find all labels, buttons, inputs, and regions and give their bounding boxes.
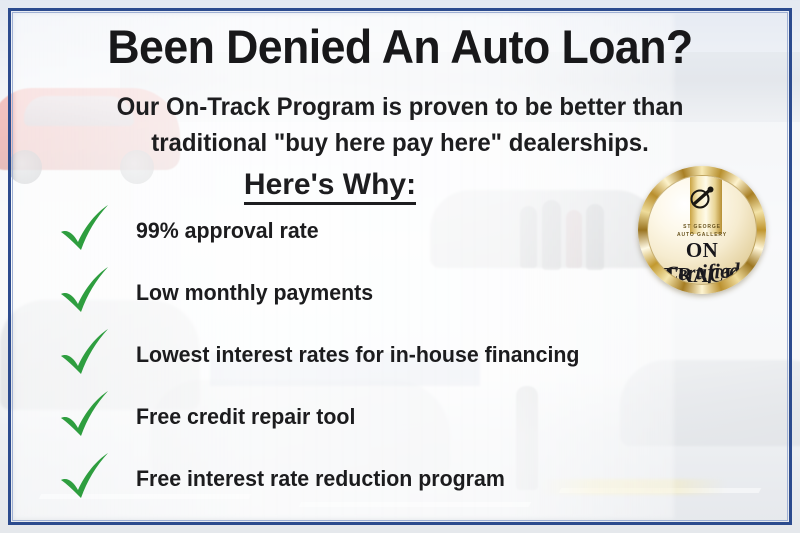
headline: Been Denied An Auto Loan? xyxy=(20,22,780,71)
list-item-label: Lowest interest rates for in-house finan… xyxy=(136,342,579,368)
check-icon xyxy=(56,388,112,444)
section-heading: Here's Why: xyxy=(0,168,660,202)
list-item: Low monthly payments xyxy=(52,262,672,324)
list-item-label: Free credit repair tool xyxy=(136,404,355,430)
list-item: Free credit repair tool xyxy=(52,386,672,448)
seal-inner-face: ST GEORGE AUTO GALLERY ON TRACK Certifie… xyxy=(647,175,757,285)
subheadline-line-1: Our On-Track Program is proven to be bet… xyxy=(74,90,727,126)
auto-loan-promo-banner: Been Denied An Auto Loan? Our On-Track P… xyxy=(0,0,800,533)
list-item-label: 99% approval rate xyxy=(136,218,319,244)
check-icon xyxy=(56,450,112,506)
banner-content: Been Denied An Auto Loan? Our On-Track P… xyxy=(0,0,800,533)
list-item: Free interest rate reduction program xyxy=(52,448,672,510)
subheadline-line-2: traditional "buy here pay here" dealersh… xyxy=(74,126,727,162)
subheadline: Our On-Track Program is proven to be bet… xyxy=(74,90,727,161)
seal-dealer-name: ST GEORGE AUTO GALLERY xyxy=(648,224,756,239)
on-track-emblem-icon xyxy=(689,185,715,211)
on-track-certified-seal: ST GEORGE AUTO GALLERY ON TRACK Certifie… xyxy=(638,166,766,294)
check-icon xyxy=(56,326,112,382)
check-icon xyxy=(56,202,112,258)
list-item: 99% approval rate xyxy=(52,200,672,262)
seal-subtitle: Certified xyxy=(647,257,756,285)
list-item-label: Low monthly payments xyxy=(136,280,373,306)
benefits-list: 99% approval rate Low monthly payments L… xyxy=(52,200,672,510)
list-item: Lowest interest rates for in-house finan… xyxy=(52,324,672,386)
check-icon xyxy=(56,264,112,320)
list-item-label: Free interest rate reduction program xyxy=(136,466,505,492)
seal-dealer-line-1: ST GEORGE xyxy=(648,224,756,232)
